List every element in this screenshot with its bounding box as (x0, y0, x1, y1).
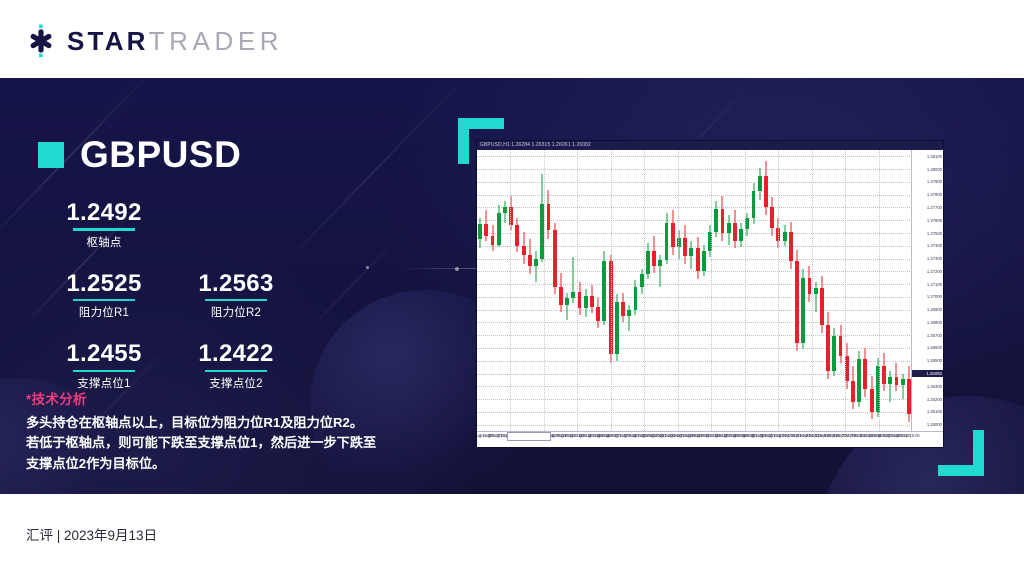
candle (895, 150, 899, 431)
price-tick-label: 1.27900 (927, 179, 942, 184)
pivot-point-label: 枢轴点 (38, 234, 170, 250)
candle (689, 150, 693, 431)
candle (503, 150, 507, 431)
brand-wordmark: STARTRADER (67, 28, 283, 54)
price-chart[interactable]: GBPUSD,H1 1.26284 1.26315 1.26061 1.2608… (476, 140, 944, 448)
analysis-body: 多头持仓在枢轴点以上，目标位为阻力位R1及阻力位R2。 若低于枢轴点，则可能下跌… (26, 413, 406, 474)
grid-line (678, 150, 679, 431)
candle (745, 150, 749, 431)
pair-title: GBPUSD (80, 136, 241, 173)
candle (683, 150, 687, 431)
price-tick-label: 1.27800 (927, 192, 942, 197)
candle (702, 150, 706, 431)
candle (596, 150, 600, 431)
price-axis: 1.281001.280001.279001.278001.277001.276… (911, 150, 943, 431)
candle (863, 150, 867, 431)
grid-line (510, 150, 511, 431)
technical-analysis-block: *技术分析 多头持仓在枢轴点以上，目标位为阻力位R1及阻力位R2。 若低于枢轴点… (26, 388, 406, 474)
candle (646, 150, 650, 431)
resistance-r2-value: 1.2563 (170, 271, 302, 296)
candle (814, 150, 818, 431)
pivot-row: 1.2492 枢轴点 (38, 200, 328, 250)
candlestick-canvas (477, 150, 912, 431)
candle (491, 150, 495, 431)
candle (758, 150, 762, 431)
candle (696, 150, 700, 431)
price-tick-label: 1.28100 (927, 154, 942, 159)
brand-name-bold: STAR (67, 28, 149, 54)
candle (652, 150, 656, 431)
analysis-line: 若低于枢轴点，则可能下跌至支撑点位1，然后进一步下跌至 (26, 433, 406, 453)
candle (901, 150, 905, 431)
price-tick-label: 1.26500 (927, 358, 942, 363)
candle (733, 150, 737, 431)
candle (497, 150, 501, 431)
accent-underline (73, 228, 135, 231)
candle (640, 150, 644, 431)
decor-dot (455, 267, 459, 271)
candle (547, 150, 551, 431)
brand-name-light: TRADER (149, 28, 284, 54)
resistance-r2-label: 阻力位R2 (170, 304, 302, 320)
candle (739, 150, 743, 431)
resistance-r1-value: 1.2525 (38, 271, 170, 296)
candle (870, 150, 874, 431)
candle (839, 150, 843, 431)
candle (553, 150, 557, 431)
candle (484, 150, 488, 431)
spacer (38, 250, 328, 271)
candle (671, 150, 675, 431)
pivot-point-value: 1.2492 (38, 200, 170, 225)
candle (621, 150, 625, 431)
candle (615, 150, 619, 431)
candle (478, 150, 482, 431)
candle (559, 150, 563, 431)
candle (565, 150, 569, 431)
resistance-row: 1.2525 阻力位R1 1.2563 阻力位R2 (38, 271, 328, 321)
candle (820, 150, 824, 431)
price-tick-label: 1.27200 (927, 269, 942, 274)
candle (770, 150, 774, 431)
candle (888, 150, 892, 431)
analysis-line: 多头持仓在枢轴点以上，目标位为阻力位R1及阻力位R2。 (26, 413, 406, 433)
currency-pair-heading: GBPUSD (38, 136, 241, 173)
candle (584, 150, 588, 431)
price-tick-label: 1.27100 (927, 282, 942, 287)
accent-underline (205, 370, 267, 373)
candle (634, 150, 638, 431)
brand-logo[interactable]: STARTRADER (24, 24, 283, 58)
price-tick-label: 1.26600 (927, 345, 942, 350)
candle (590, 150, 594, 431)
analysis-title: *技术分析 (26, 388, 406, 408)
candle (764, 150, 768, 431)
pivot-point-cell: 1.2492 枢轴点 (38, 200, 170, 250)
grid-line (879, 150, 880, 431)
price-tick-label: 1.27000 (927, 294, 942, 299)
resistance-r1-cell: 1.2525 阻力位R1 (38, 271, 170, 321)
price-tick-label: 1.27600 (927, 218, 942, 223)
candle (795, 150, 799, 431)
price-tick-label: 1.28000 (927, 167, 942, 172)
spacer (38, 320, 328, 341)
grid-line (544, 150, 545, 431)
support-s2-cell: 1.2422 支撑点位2 (170, 341, 302, 391)
price-tick-label: 1.26000 (927, 422, 942, 427)
candle (882, 150, 886, 431)
candle (721, 150, 725, 431)
grid-line (812, 150, 813, 431)
price-tick-label: 1.27400 (927, 243, 942, 248)
candle (826, 150, 830, 431)
price-tick-label: 1.27500 (927, 231, 942, 236)
candle (727, 150, 731, 431)
price-tick-label: 1.26800 (927, 320, 942, 325)
grid-line (745, 150, 746, 431)
decor-dot (366, 266, 369, 269)
candle (783, 150, 787, 431)
site-header: STARTRADER (0, 0, 1024, 78)
grid-line (611, 150, 612, 431)
price-tick-label: 1.26300 (927, 384, 942, 389)
star-asterisk-icon (24, 24, 58, 58)
poster-page: STARTRADER GBPUSD 1.2492 (0, 0, 1024, 576)
candle (534, 150, 538, 431)
price-tick-label: 1.26900 (927, 307, 942, 312)
candle (857, 150, 861, 431)
pivot-levels: 1.2492 枢轴点 1.2525 阻力位R1 1.2563 阻力位R2 (38, 200, 328, 391)
candle (665, 150, 669, 431)
candle (801, 150, 805, 431)
candle (752, 150, 756, 431)
grid-line (778, 150, 779, 431)
support-s1-value: 1.2455 (38, 341, 170, 366)
candle (522, 150, 526, 431)
grid-line (845, 150, 846, 431)
support-row: 1.2455 支撑点位1 1.2422 支撑点位2 (38, 341, 328, 391)
price-tick-label: 1.27700 (927, 205, 942, 210)
resistance-r2-cell: 1.2563 阻力位R2 (170, 271, 302, 321)
decor-line (400, 268, 476, 269)
price-tick-label: 1.26200 (927, 397, 942, 402)
candle (851, 150, 855, 431)
candle (714, 150, 718, 431)
site-footer: 汇评 | 2023年9月13日 (0, 494, 1024, 576)
chart-plot-area: 1.281001.280001.279001.278001.277001.276… (477, 150, 943, 431)
price-tick-label: 1.26100 (927, 409, 942, 414)
support-s1-cell: 1.2455 支撑点位1 (38, 341, 170, 391)
candle (515, 150, 519, 431)
chart-title-bar: GBPUSD,H1 1.26284 1.26315 1.26061 1.2608… (477, 141, 943, 150)
grid-line (577, 150, 578, 431)
price-tick-label: 1.26700 (927, 333, 942, 338)
candle (627, 150, 631, 431)
time-scroll-handle[interactable] (507, 432, 551, 441)
time-axis: 3 Aug 14:004 Aug 04:004 Aug 18:007 Aug 0… (477, 431, 943, 448)
support-s2-value: 1.2422 (170, 341, 302, 366)
accent-underline (73, 299, 135, 302)
accent-square-icon (38, 142, 64, 168)
footer-caption: 汇评 | 2023年9月13日 (26, 524, 157, 544)
time-tick-label: 12 Sep 18:00 (895, 433, 919, 438)
grid-line (644, 150, 645, 431)
candle (602, 150, 606, 431)
candle (658, 150, 662, 431)
accent-underline (73, 370, 135, 373)
candle (528, 150, 532, 431)
resistance-r1-label: 阻力位R1 (38, 304, 170, 320)
corner-bracket-bottom-right (938, 430, 984, 476)
accent-underline (205, 299, 267, 302)
analysis-line: 支撑点位2作为目标位。 (26, 454, 406, 474)
candle (789, 150, 793, 431)
grid-line (711, 150, 712, 431)
candle (571, 150, 575, 431)
price-tick-label: 1.27300 (927, 256, 942, 261)
candle (832, 150, 836, 431)
current-price-tag: 1.26082 (912, 370, 943, 377)
